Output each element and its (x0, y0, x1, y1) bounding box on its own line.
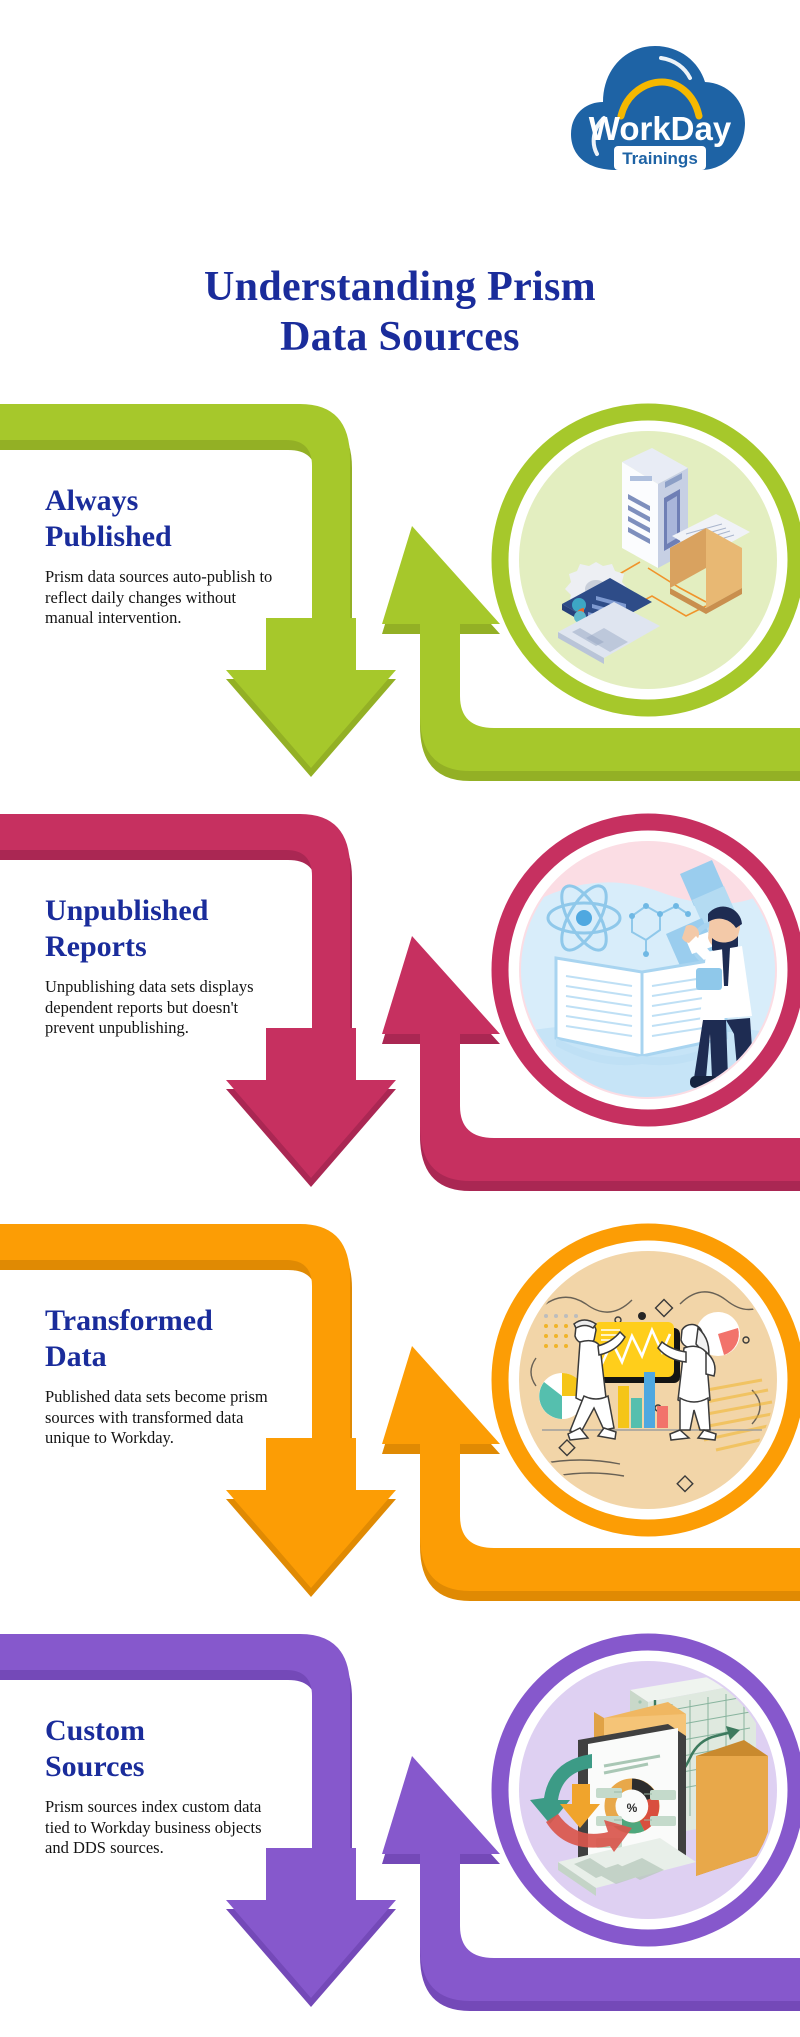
section-custom-sources: Custom Sources Prism sources index custo… (0, 1630, 800, 2020)
section-unpublished-reports: Unpublished Reports Unpublishing data se… (0, 810, 800, 1200)
section-body: Unpublishing data sets displays dependen… (45, 977, 280, 1039)
folder-back-icon (696, 1740, 768, 1876)
section-heading: Custom Sources (45, 1713, 280, 1785)
section-text-block: Transformed Data Published data sets bec… (45, 1303, 280, 1449)
logo-subwordmark: Trainings (622, 149, 698, 168)
logo-wordmark: WorkDay (589, 110, 732, 147)
section-heading: Transformed Data (45, 1303, 280, 1375)
heading-line-1: Transformed (45, 1304, 213, 1337)
heading-line-2: Sources (45, 1750, 144, 1783)
section-body: Published data sets become prism sources… (45, 1387, 280, 1449)
section-transformed-data: Transformed Data Published data sets bec… (0, 1220, 800, 1610)
illustration-laptop-folder-spreadsheet-sync: % (500, 1640, 800, 1940)
page-title: Understanding Prism Data Sources (0, 262, 800, 362)
down-arrowhead (226, 1848, 396, 1998)
down-arrowhead (226, 618, 396, 768)
heading-line-2: Published (45, 520, 172, 553)
heading-line-1: Custom (45, 1714, 145, 1747)
section-heading: Unpublished Reports (45, 893, 280, 965)
page-title-line-2: Data Sources (0, 312, 800, 362)
cloud-logo-icon: WorkDay Trainings (565, 18, 755, 183)
section-always-published: Always Published Prism data sources auto… (0, 400, 800, 790)
section-text-block: Custom Sources Prism sources index custo… (45, 1713, 280, 1859)
down-arrowhead (226, 1028, 396, 1178)
section-heading: Always Published (45, 483, 280, 555)
illustration-team-analytics-presentation (500, 1230, 800, 1530)
down-arrowhead (226, 1438, 396, 1588)
svg-text:%: % (627, 1801, 638, 1815)
heading-line-2: Reports (45, 930, 147, 963)
heading-line-1: Unpublished (45, 894, 208, 927)
section-text-block: Always Published Prism data sources auto… (45, 483, 280, 629)
illustration-server-gear-folder-laptop (500, 410, 800, 710)
heading-line-2: Data (45, 1340, 107, 1373)
illustration-scientist-microscope-book (500, 820, 800, 1120)
workday-trainings-logo: WorkDay Trainings (565, 18, 755, 183)
infographic-page: WorkDay Trainings Understanding Prism Da… (0, 0, 800, 2037)
section-text-block: Unpublished Reports Unpublishing data se… (45, 893, 280, 1039)
heading-line-1: Always (45, 484, 138, 517)
section-body: Prism data sources auto-publish to refle… (45, 567, 280, 629)
page-title-line-1: Understanding Prism (0, 262, 800, 312)
section-body: Prism sources index custom data tied to … (45, 1797, 280, 1859)
